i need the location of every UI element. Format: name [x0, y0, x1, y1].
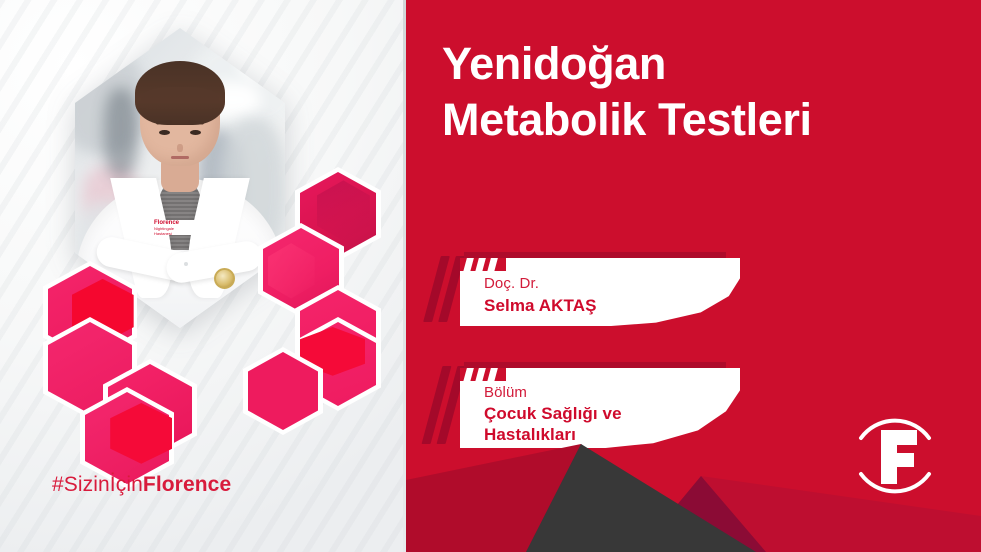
- hexagon-bottom: [85, 392, 169, 484]
- announcement-card: Florence Nightingale Hastanesi Doç. Dr. …: [0, 0, 981, 552]
- wristwatch: [214, 268, 235, 289]
- speaker-name: Selma AKTAŞ: [484, 296, 597, 317]
- portrait-alt: Doç. Dr. Selma Aktaş portresi: [75, 28, 76, 29]
- speaker-banner: Doç. Dr. Selma AKTAŞ: [430, 248, 750, 340]
- speaker-banner-card: Doç. Dr. Selma AKTAŞ: [460, 258, 740, 326]
- title-line-1: Yenidoğan: [442, 36, 962, 92]
- department-name-line-1: Çocuk Sağlığı ve: [484, 404, 622, 425]
- badge-sub2: Hastanesi: [154, 231, 196, 236]
- hashtag-light: #Sizinİçin: [52, 473, 143, 496]
- left-panel: Florence Nightingale Hastanesi Doç. Dr. …: [0, 0, 406, 552]
- coat-badge: Florence Nightingale Hastanesi: [154, 220, 196, 235]
- right-red-panel: Yenidoğan Metabolik Testleri Doç. Dr. Se…: [406, 0, 981, 552]
- page-title: Yenidoğan Metabolik Testleri: [442, 36, 962, 148]
- department-label: Bölüm: [484, 384, 527, 401]
- hashtag: #SizinİçinFlorence: [52, 473, 231, 497]
- florence-logo: F: [847, 408, 943, 504]
- hexagon-center: [248, 352, 318, 430]
- speaker-label: Doç. Dr.: [484, 275, 539, 292]
- hashtag-bold: Florence: [143, 473, 231, 496]
- title-line-2: Metabolik Testleri: [442, 92, 962, 148]
